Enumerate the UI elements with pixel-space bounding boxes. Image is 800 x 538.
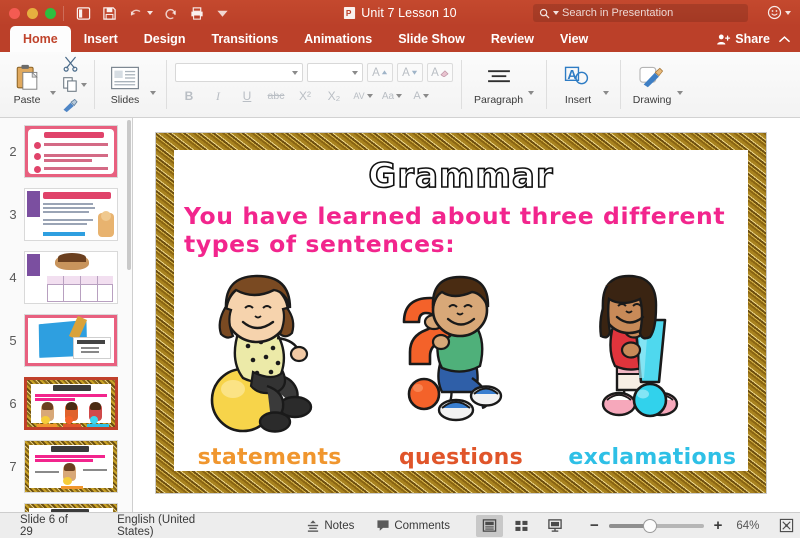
thumbnail-preview-selected[interactable] (24, 377, 118, 430)
fit-slide-icon (779, 518, 794, 533)
undo-dropdown-caret[interactable] (147, 11, 153, 15)
current-slide[interactable]: Grammar You have learned about three dif… (156, 133, 766, 493)
undo-icon[interactable] (127, 5, 144, 22)
insert-dropdown-caret[interactable] (603, 91, 609, 95)
cut-button[interactable] (62, 54, 87, 73)
customize-toolbar-icon[interactable] (214, 5, 231, 22)
drawing-icon (638, 63, 666, 93)
clear-formatting-icon: A (431, 67, 439, 79)
figure-girl-period[interactable] (195, 268, 345, 438)
font-row-bottom: B I U abc X² X₂ AV Aa A (175, 86, 435, 106)
copy-icon (62, 76, 79, 93)
character-spacing-caret[interactable] (367, 94, 373, 98)
close-button[interactable] (9, 8, 20, 19)
share-button[interactable]: Share (716, 26, 770, 52)
thumbnail-item-4[interactable]: 4 (0, 246, 132, 309)
label-questions[interactable]: questions (371, 445, 551, 470)
maximize-button[interactable] (45, 8, 56, 19)
normal-view-button[interactable] (476, 515, 503, 537)
thumbnail-number: 5 (2, 333, 24, 348)
paragraph-dropdown-caret[interactable] (528, 91, 534, 95)
share-person-icon (716, 33, 731, 46)
window-controls (0, 8, 56, 19)
zoom-in-button[interactable]: + (714, 517, 723, 534)
slide-figures (174, 268, 748, 438)
search-placeholder: Search in Presentation (562, 7, 673, 19)
thumbnail-item-7[interactable]: 7 (0, 435, 132, 498)
tab-review[interactable]: Review (478, 26, 547, 52)
tab-home[interactable]: Home (10, 26, 71, 52)
font-name-input[interactable] (175, 63, 303, 82)
thumbnail-preview[interactable] (24, 125, 118, 178)
thumbnail-number: 3 (2, 207, 24, 222)
comment-icon (376, 519, 390, 532)
sidebar-toggle-icon[interactable] (75, 5, 92, 22)
thumbnail-scrollbar[interactable] (127, 120, 131, 270)
slide-thumbnail-panel[interactable]: 2 3 (0, 118, 133, 512)
paragraph-label: Paragraph (474, 94, 523, 106)
normal-view-icon (482, 518, 497, 533)
format-painter-button[interactable] (62, 96, 87, 115)
print-icon[interactable] (188, 5, 205, 22)
notes-button[interactable]: Notes (306, 519, 354, 533)
zoom-slider[interactable] (609, 524, 704, 528)
font-color-caret[interactable] (423, 94, 429, 98)
label-statements[interactable]: statements (180, 445, 360, 470)
ribbon-tab-bar: Home Insert Design Transitions Animation… (0, 26, 800, 52)
powerpoint-file-icon: P (343, 6, 356, 20)
presenter-view-icon (547, 518, 563, 533)
slide-labels: statements questions exclamations (174, 440, 748, 474)
search-input[interactable]: Search in Presentation (533, 4, 748, 22)
paragraph-icon (486, 63, 512, 93)
slide-sorter-view-button[interactable] (509, 515, 536, 537)
subscript-button[interactable]: X₂ (320, 86, 348, 106)
thumbnail-item-5[interactable]: 5 (0, 309, 132, 372)
font-color-icon: A (413, 90, 420, 102)
shrink-font-icon: A (402, 67, 410, 79)
thumbnail-item-6[interactable]: 6 (0, 372, 132, 435)
chevron-up-icon (778, 34, 791, 45)
zoom-out-button[interactable]: − (590, 517, 599, 534)
figure-girl-exclamation[interactable] (577, 268, 727, 438)
insert-button[interactable]: A Insert (558, 52, 598, 117)
feedback-group[interactable] (767, 5, 791, 20)
thumbnail-number: 4 (2, 270, 24, 285)
character-spacing-button[interactable]: AV (349, 86, 377, 106)
tab-animations[interactable]: Animations (291, 26, 385, 52)
quick-access-toolbar (71, 5, 231, 22)
thumbnail-preview[interactable] (24, 251, 118, 304)
tab-view[interactable]: View (547, 26, 601, 52)
minimize-button[interactable] (27, 8, 38, 19)
ribbon-toolbar: Paste (0, 52, 800, 118)
notes-label: Notes (324, 520, 354, 532)
thumbnail-preview[interactable] (24, 503, 118, 512)
search-scope-caret[interactable] (553, 11, 559, 15)
tab-insert[interactable]: Insert (71, 26, 131, 52)
paste-dropdown-caret[interactable] (50, 91, 56, 95)
thumbnail-item-8[interactable]: 8 (0, 498, 132, 512)
italic-button[interactable]: I (204, 86, 232, 106)
thumbnail-number: 6 (2, 396, 24, 411)
slides-label: Slides (111, 94, 140, 106)
presenter-view-button[interactable] (541, 515, 568, 537)
paragraph-button[interactable]: Paragraph (474, 52, 523, 117)
bold-button[interactable]: B (175, 86, 203, 106)
slides-button[interactable]: Slides (105, 52, 145, 117)
slide-body-text[interactable]: You have learned about three different t… (184, 203, 742, 258)
clipboard-icon (14, 63, 41, 93)
label-exclamations[interactable]: exclamations (562, 445, 742, 470)
grow-font-button[interactable]: A (367, 63, 393, 82)
slide-title[interactable]: Grammar (174, 156, 748, 196)
paste-button[interactable]: Paste (7, 52, 47, 117)
thumbnail-preview[interactable] (24, 314, 118, 367)
superscript-button[interactable]: X² (291, 86, 319, 106)
ribbon-group-clipboard: Paste (0, 52, 94, 117)
ribbon-group-font: A A A B I U abc X² X₂ (167, 52, 461, 117)
ribbon-collapse-button[interactable] (778, 26, 791, 52)
font-name-caret[interactable] (292, 71, 298, 75)
save-icon[interactable] (101, 5, 118, 22)
character-spacing-icon: AV (353, 91, 364, 101)
svg-text:A: A (567, 67, 576, 82)
slide-counter[interactable]: Slide 6 of 29 (20, 514, 83, 538)
slides-dropdown-caret[interactable] (150, 91, 156, 95)
font-size-caret[interactable] (352, 71, 358, 75)
paintbrush-icon (62, 98, 79, 113)
slide-edit-area[interactable]: Grammar You have learned about three dif… (134, 118, 800, 512)
ribbon-group-slides: Slides (95, 52, 166, 117)
ribbon-group-drawing: Drawing (621, 52, 694, 117)
svg-text:P: P (346, 8, 352, 18)
font-size-input[interactable] (307, 63, 363, 82)
tab-design[interactable]: Design (131, 26, 199, 52)
thumbnail-preview[interactable] (24, 440, 118, 493)
thumbnail-preview[interactable] (24, 188, 118, 241)
thumbnail-item-2[interactable]: 2 (0, 120, 132, 183)
powerpoint-window: P Unit 7 Lesson 10 Search in Presentatio… (0, 0, 800, 538)
change-case-caret[interactable] (396, 94, 402, 98)
drawing-label: Drawing (633, 94, 672, 106)
underline-button[interactable]: U (233, 86, 261, 106)
title-bar: P Unit 7 Lesson 10 Search in Presentatio… (0, 0, 800, 26)
thumbnail-item-3[interactable]: 3 (0, 183, 132, 246)
document-title: Unit 7 Lesson 10 (361, 6, 456, 20)
copy-button[interactable] (62, 75, 87, 94)
slide-content-area[interactable]: Grammar You have learned about three dif… (174, 150, 748, 471)
clipboard-small-buttons (62, 52, 87, 117)
copy-dropdown-caret[interactable] (81, 83, 87, 87)
insert-label: Insert (565, 94, 591, 106)
toolbar-divider (63, 6, 64, 21)
smiley-feedback-icon (767, 5, 782, 20)
language-indicator[interactable]: English (United States) (117, 514, 233, 538)
change-case-button[interactable]: Aa (378, 86, 406, 106)
zoom-level[interactable]: 64% (736, 520, 759, 532)
clear-formatting-button[interactable]: A (427, 63, 453, 82)
undo-group[interactable] (127, 5, 153, 22)
grow-font-icon: A (372, 67, 380, 79)
zoom-slider-handle[interactable] (643, 519, 657, 533)
paste-label: Paste (14, 94, 41, 106)
figure-boy-question[interactable] (386, 268, 536, 438)
tab-transitions[interactable]: Transitions (198, 26, 291, 52)
change-case-icon: Aa (382, 91, 394, 102)
thumbnail-number: 2 (2, 144, 24, 159)
font-row-top: A A A (175, 63, 453, 82)
insert-shape-icon: A (564, 63, 592, 93)
slide-sorter-icon (514, 519, 529, 533)
ribbon-group-paragraph: Paragraph (462, 52, 546, 117)
feedback-caret[interactable] (785, 11, 791, 15)
drawing-button[interactable]: Drawing (632, 52, 672, 117)
comments-label: Comments (394, 520, 450, 532)
search-icon (539, 8, 550, 19)
strikethrough-button[interactable]: abc (262, 86, 290, 106)
thumbnail-number: 7 (2, 459, 24, 474)
tab-slide-show[interactable]: Slide Show (385, 26, 478, 52)
ribbon-group-insert: A Insert (547, 52, 620, 117)
drawing-dropdown-caret[interactable] (677, 91, 683, 95)
redo-icon[interactable] (162, 5, 179, 22)
font-color-button[interactable]: A (407, 86, 435, 106)
comments-button[interactable]: Comments (376, 519, 450, 532)
scissors-icon (62, 55, 79, 72)
shrink-font-button[interactable]: A (397, 63, 423, 82)
new-slide-icon (110, 63, 140, 93)
fit-to-window-button[interactable] (773, 515, 800, 537)
share-label: Share (735, 32, 770, 46)
status-bar: Slide 6 of 29 English (United States) No… (0, 512, 800, 538)
notes-icon (306, 519, 320, 533)
